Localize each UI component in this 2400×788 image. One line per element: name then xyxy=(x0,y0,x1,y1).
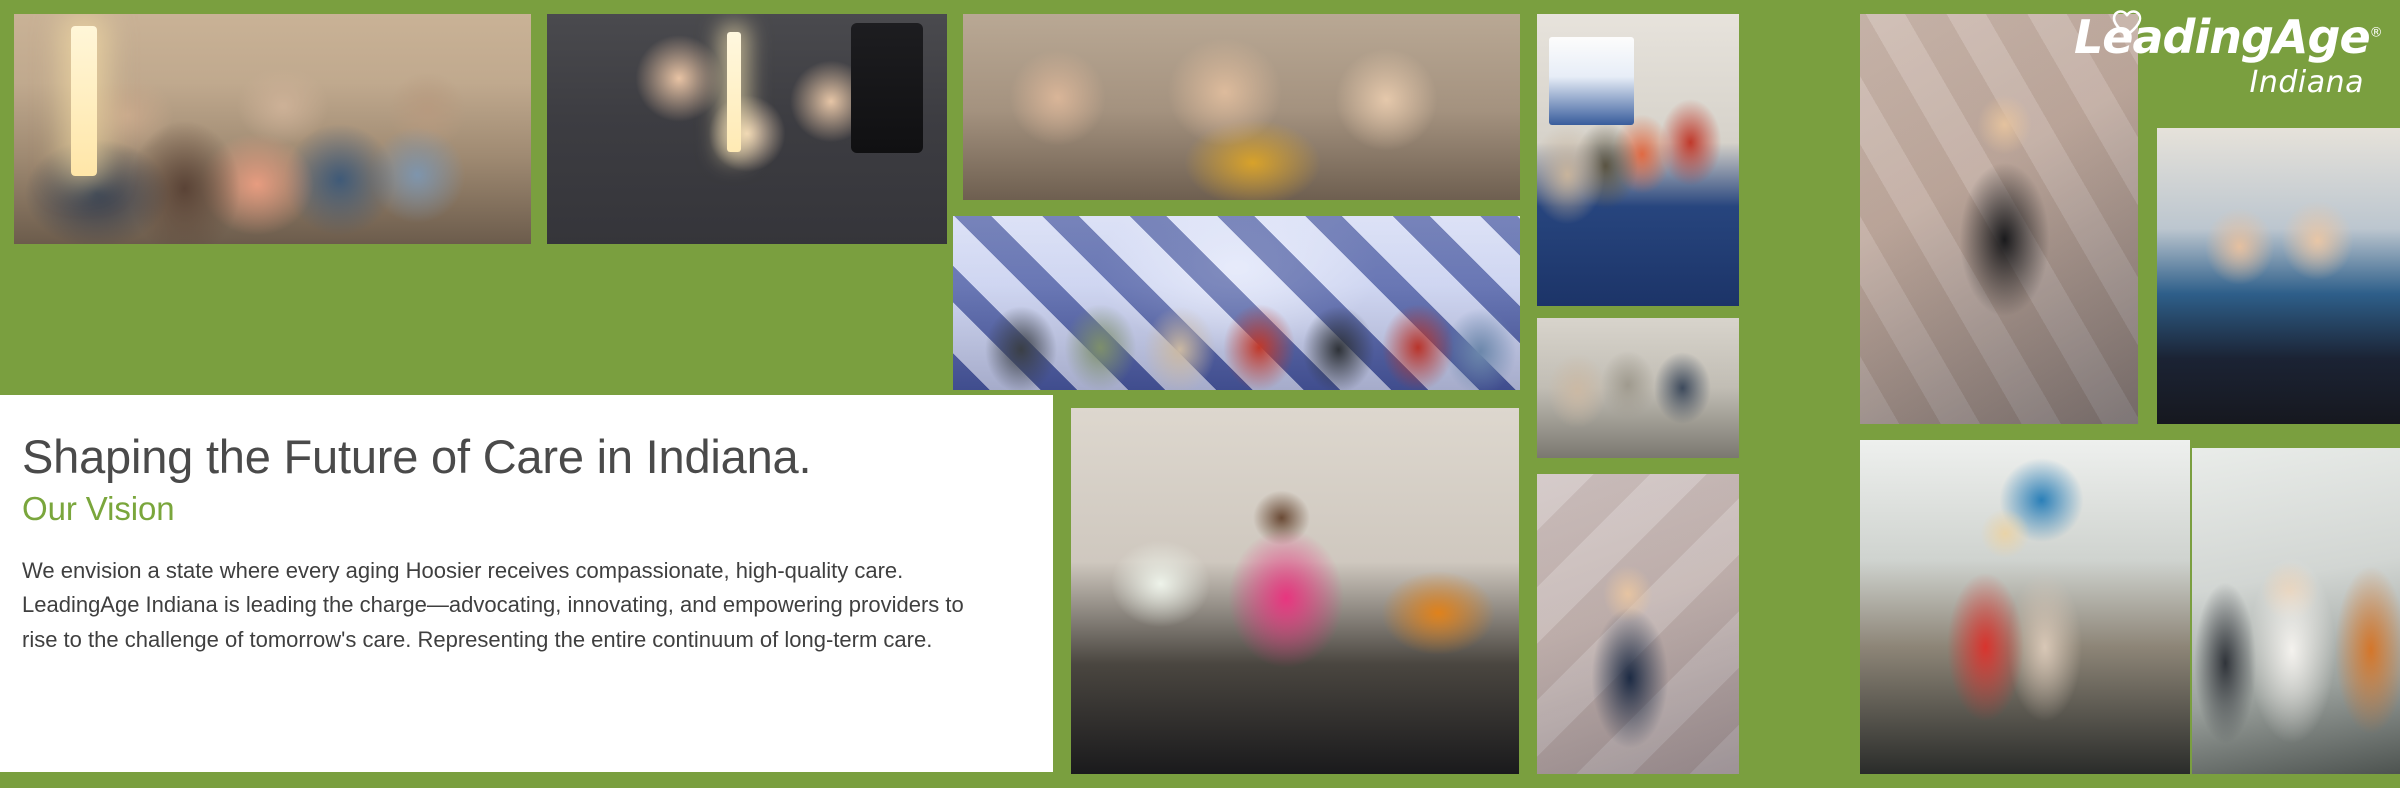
section-subtitle-our-vision: Our Vision xyxy=(22,490,1001,528)
collage-photo-award-winners-group xyxy=(953,216,1520,390)
collage-photo-three-people-award xyxy=(547,14,947,244)
logo-state-name: Indiana xyxy=(2074,68,2374,98)
page-title: Shaping the Future of Care in Indiana. xyxy=(22,431,1001,484)
collage-photo-attendees-conversation xyxy=(2192,448,2400,774)
collage-photo-exhibit-hall-lee-agency xyxy=(1537,14,1739,306)
vision-statement-body: We envision a state where every aging Ho… xyxy=(22,554,1001,658)
collage-photo-small-group-worksession xyxy=(1537,318,1739,458)
collage-photo-two-women-hugging xyxy=(1860,440,2190,774)
collage-photo-audience-seated-session xyxy=(14,14,531,244)
collage-photo-roundtable-discussion xyxy=(963,14,1520,200)
collage-photo-banquet-attendee-pink xyxy=(1071,408,1519,774)
leadingage-indiana-logo[interactable]: LeadingAge® Indiana xyxy=(2074,14,2374,114)
vision-text-panel: Shaping the Future of Care in Indiana. O… xyxy=(0,395,1053,772)
heart-icon xyxy=(2112,10,2142,36)
collage-photo-speaker-man-microphone xyxy=(1537,474,1739,774)
leadingage-indiana-banner: Shaping the Future of Care in Indiana. O… xyxy=(0,0,2400,788)
collage-photo-two-men-thumbs-up xyxy=(2157,128,2400,424)
registered-trademark-icon: ® xyxy=(2370,26,2382,41)
